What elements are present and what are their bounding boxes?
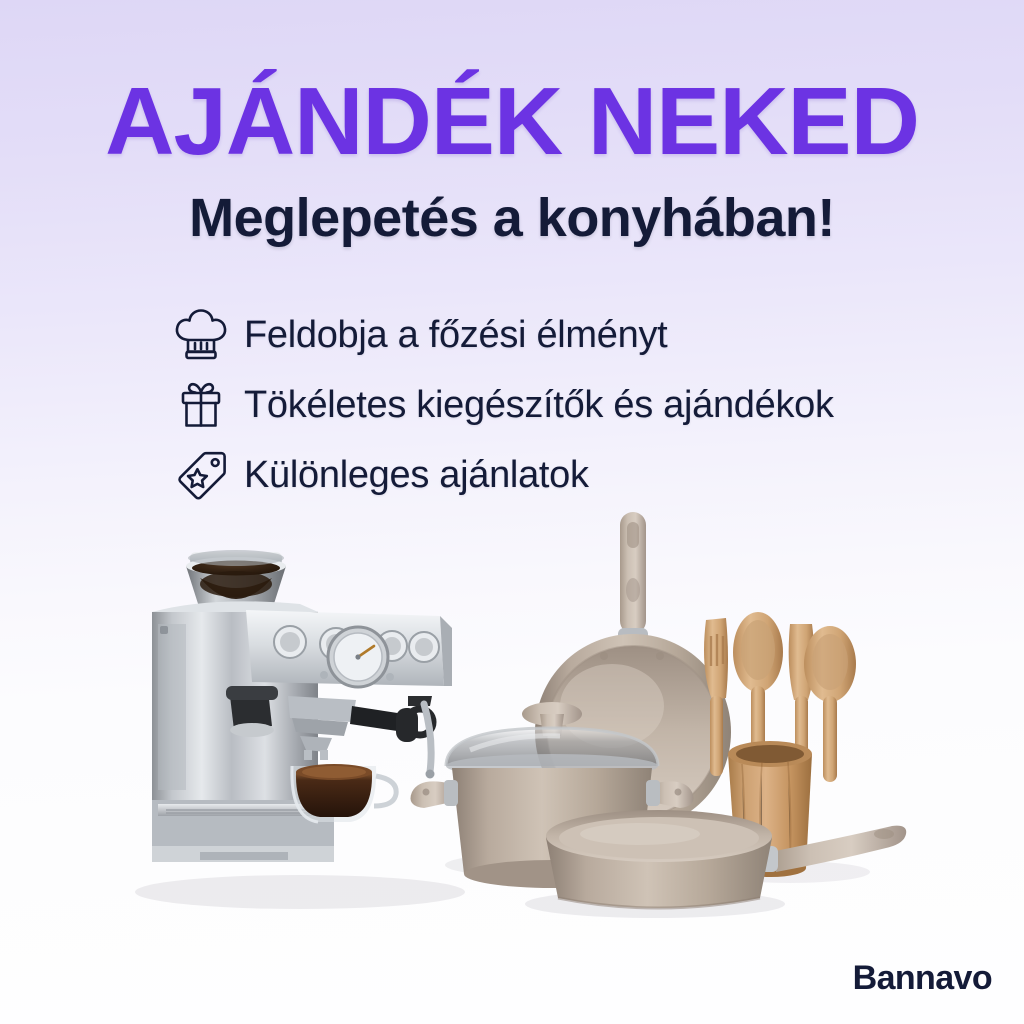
- feature-label: Különleges ajánlatok: [244, 454, 589, 497]
- page-title: AJÁNDÉK NEKED: [0, 74, 1024, 170]
- price-tag-star-icon: [172, 448, 230, 502]
- list-item: Különleges ajánlatok: [172, 442, 932, 508]
- wooden-spoon-2: [804, 626, 856, 782]
- chef-hat-icon: [172, 308, 230, 362]
- shallow-pan: [546, 810, 906, 908]
- espresso-machine: [152, 550, 452, 862]
- gift-box-icon: [172, 378, 230, 432]
- feature-label: Tökéletes kiegészítők és ajándékok: [244, 384, 834, 427]
- feature-list: Feldobja a főzési élményt Tökéletes kieg…: [172, 302, 932, 512]
- list-item: Tökéletes kiegészítők és ajándékok: [172, 372, 932, 438]
- page-subtitle: Meglepetés a konyhában!: [0, 190, 1024, 247]
- espresso-cup: [292, 764, 396, 822]
- list-item: Feldobja a főzési élményt: [172, 302, 932, 368]
- brand-logo: Bannavo: [853, 959, 992, 998]
- product-photo-svg: [0, 500, 1024, 970]
- product-photo: [0, 500, 1024, 970]
- promo-banner: AJÁNDÉK NEKED Meglepetés a konyhában! Fe…: [0, 0, 1024, 1024]
- feature-label: Feldobja a főzési élményt: [244, 314, 667, 357]
